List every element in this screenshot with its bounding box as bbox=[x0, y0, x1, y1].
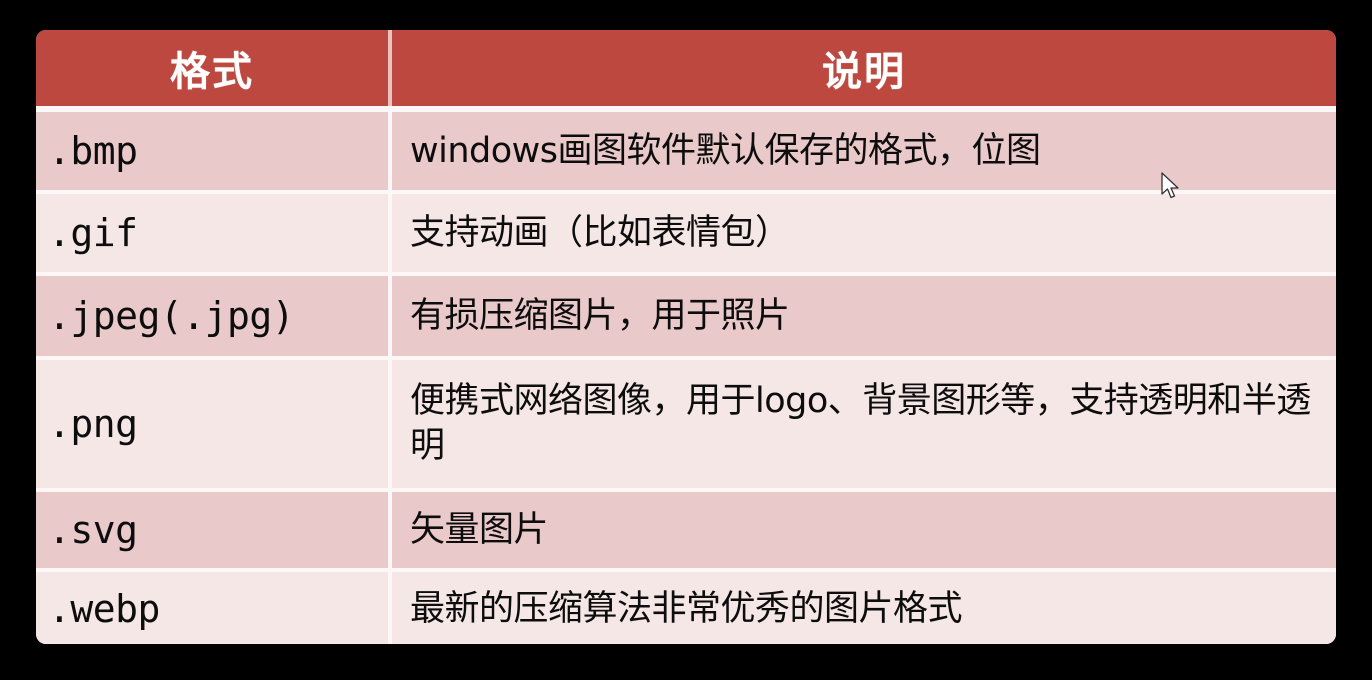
description-value: 支持动画（比如表情包） bbox=[410, 211, 790, 256]
table-row: .bmp windows画图软件默认保存的格式，位图 bbox=[36, 112, 1336, 190]
table-row: .svg 矢量图片 bbox=[36, 492, 1336, 568]
format-value: .png bbox=[48, 402, 138, 446]
cell-format: .gif bbox=[36, 194, 388, 272]
column-header-description: 说明 bbox=[392, 30, 1336, 106]
column-header-format: 格式 bbox=[36, 30, 388, 106]
format-value: .gif bbox=[48, 211, 138, 255]
cell-format: .webp bbox=[36, 572, 388, 644]
cell-format: .bmp bbox=[36, 112, 388, 190]
cell-description: 支持动画（比如表情包） bbox=[392, 194, 1336, 272]
cell-description: 便携式网络图像，用于logo、背景图形等，支持透明和半透明 bbox=[392, 360, 1336, 488]
table-row: .webp 最新的压缩算法非常优秀的图片格式 bbox=[36, 572, 1336, 644]
cell-description: 矢量图片 bbox=[392, 492, 1336, 568]
cell-description: windows画图软件默认保存的格式，位图 bbox=[392, 112, 1336, 190]
description-value: 最新的压缩算法非常优秀的图片格式 bbox=[410, 587, 962, 632]
column-header-format-label: 格式 bbox=[170, 39, 254, 97]
format-value: .svg bbox=[48, 508, 138, 552]
description-value: 便携式网络图像，用于logo、背景图形等，支持透明和半透明 bbox=[410, 379, 1330, 469]
table-row: .png 便携式网络图像，用于logo、背景图形等，支持透明和半透明 bbox=[36, 360, 1336, 488]
description-value: windows画图软件默认保存的格式，位图 bbox=[410, 129, 1041, 174]
description-value: 有损压缩图片，用于照片 bbox=[410, 294, 790, 339]
format-value: .webp bbox=[48, 587, 160, 631]
cell-format: .png bbox=[36, 360, 388, 488]
page-root: 格式 说明 .bmp windows画图软件默认保存的格式，位图 .gif bbox=[0, 0, 1372, 680]
cell-format: .jpeg(.jpg) bbox=[36, 276, 388, 356]
description-value: 矢量图片 bbox=[410, 508, 548, 553]
cell-description: 有损压缩图片，用于照片 bbox=[392, 276, 1336, 356]
cell-description: 最新的压缩算法非常优秀的图片格式 bbox=[392, 572, 1336, 644]
table-row: .gif 支持动画（比如表情包） bbox=[36, 194, 1336, 272]
table-row: .jpeg(.jpg) 有损压缩图片，用于照片 bbox=[36, 276, 1336, 356]
table-header-row: 格式 说明 bbox=[36, 30, 1336, 106]
column-header-description-label: 说明 bbox=[822, 39, 906, 97]
format-value: .jpeg(.jpg) bbox=[48, 294, 294, 338]
cell-format: .svg bbox=[36, 492, 388, 568]
format-value: .bmp bbox=[48, 129, 138, 173]
image-format-table: 格式 说明 .bmp windows画图软件默认保存的格式，位图 .gif bbox=[36, 30, 1336, 644]
